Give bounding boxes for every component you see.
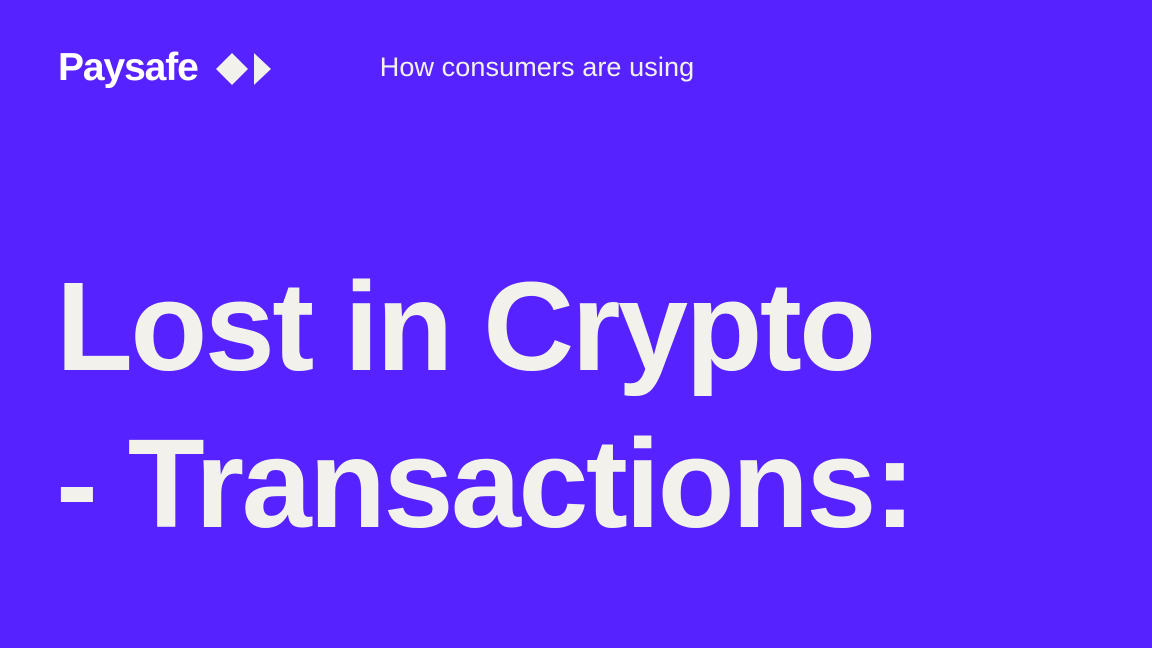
headline-line-1: Lost in Crypto <box>56 248 1112 405</box>
page-title: Lost in Crypto - Transactions: <box>56 248 1112 562</box>
title-slide: Paysafe How consumers are using Lost in … <box>0 0 1152 648</box>
header-tagline: How consumers are using <box>272 54 1096 81</box>
slide-header: Paysafe How consumers are using <box>0 0 1152 140</box>
paysafe-logo[interactable]: Paysafe <box>58 48 272 87</box>
paysafe-diamond-chevron-icon <box>215 52 272 86</box>
headline-line-2: - Transactions: <box>56 405 1112 562</box>
brand-wordmark: Paysafe <box>58 48 198 87</box>
